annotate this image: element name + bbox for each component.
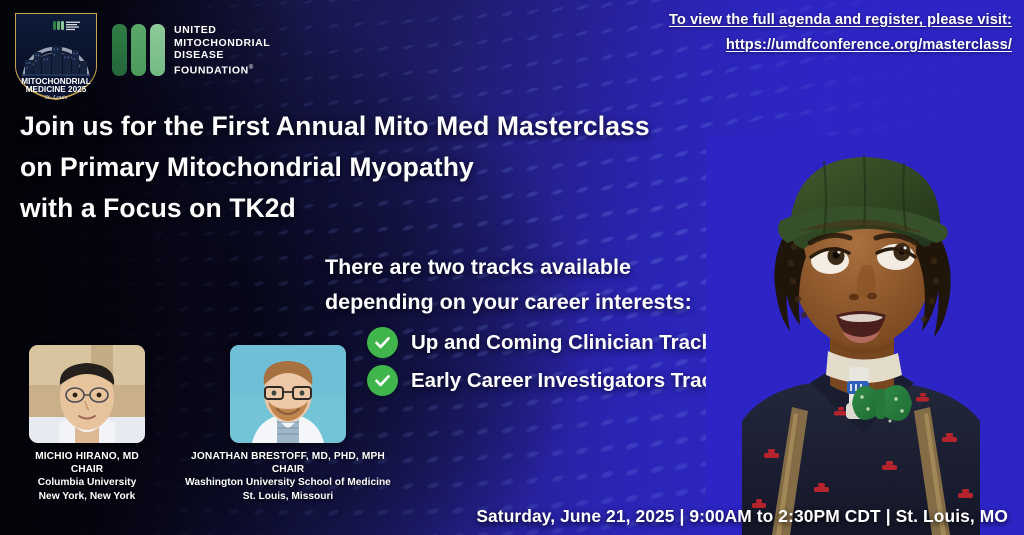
register-prompt: To view the full agenda and register, pl…	[669, 8, 1012, 33]
headline-line-1: Join us for the First Annual Mito Med Ma…	[20, 106, 650, 147]
tracks-lead-line-1: There are two tracks available	[325, 250, 724, 285]
umdf-line-3: DISEASE	[174, 49, 270, 62]
umdf-logo-text: UNITED MITOCHONDRIAL DISEASE FOUNDATION®	[174, 24, 270, 77]
speaker-name-hirano: MICHIO HIRANO, MD	[14, 450, 160, 463]
track-label-investigator: Early Career Investigators Track	[411, 369, 724, 393]
speakers-section: MICHIO HIRANO, MD CHAIR Columbia Univers…	[0, 345, 410, 503]
speaker-affiliation-brestoff-1: Washington University School of Medicine	[172, 476, 404, 490]
speaker-affiliation-hirano-2: New York, New York	[14, 490, 160, 504]
track-label-clinician: Up and Coming Clinician Track	[411, 331, 713, 355]
umdf-line-4: FOUNDATION	[174, 64, 249, 76]
speaker-photo-brestoff	[230, 345, 346, 443]
track-item-investigator: Early Career Investigators Track	[367, 365, 724, 396]
umdf-bars-icon	[112, 24, 165, 76]
headline-line-2: on Primary Mitochondrial Myopathy	[20, 147, 650, 188]
speaker-card-hirano: MICHIO HIRANO, MD CHAIR Columbia Univers…	[14, 345, 160, 503]
speaker-affiliation-brestoff-2: St. Louis, Missouri	[172, 490, 404, 504]
register-url-link[interactable]: https://umdfconference.org/masterclass/	[669, 33, 1012, 58]
umdf-logo: UNITED MITOCHONDRIAL DISEASE FOUNDATION®	[112, 24, 270, 77]
speaker-card-brestoff: JONATHAN BRESTOFF, MD, PHD, MPH CHAIR Wa…	[172, 345, 404, 503]
headline-line-3: with a Focus on TK2d	[20, 188, 650, 229]
child-patient-photo	[706, 135, 1024, 535]
speaker-photo-hirano	[29, 345, 145, 443]
speaker-role-hirano: CHAIR	[14, 463, 160, 476]
speaker-name-brestoff: JONATHAN BRESTOFF, MD, PHD, MPH	[172, 450, 404, 463]
speaker-role-brestoff: CHAIR	[172, 463, 404, 476]
tracks-lead-line-2: depending on your career interests:	[325, 285, 724, 320]
umdf-trademark: ®	[249, 65, 254, 71]
badge-line3: St. Louis	[45, 94, 68, 100]
register-callout[interactable]: To view the full agenda and register, pl…	[669, 8, 1012, 58]
event-headline: Join us for the First Annual Mito Med Ma…	[20, 106, 650, 229]
event-date-time-location: Saturday, June 21, 2025 | 9:00AM to 2:30…	[0, 506, 1024, 527]
badge-line2: MEDICINE 2025	[26, 85, 87, 94]
speaker-affiliation-hirano-1: Columbia University	[14, 476, 160, 490]
track-item-clinician: Up and Coming Clinician Track	[367, 327, 724, 358]
event-promo-poster: MITOCHONDRIAL MEDICINE 2025 St. Louis UN…	[0, 0, 1024, 535]
umdf-line-1: UNITED	[174, 24, 270, 37]
mitochondrial-medicine-2025-badge-logo: MITOCHONDRIAL MEDICINE 2025 St. Louis	[12, 8, 100, 100]
umdf-line-2: MITOCHONDRIAL	[174, 37, 270, 50]
